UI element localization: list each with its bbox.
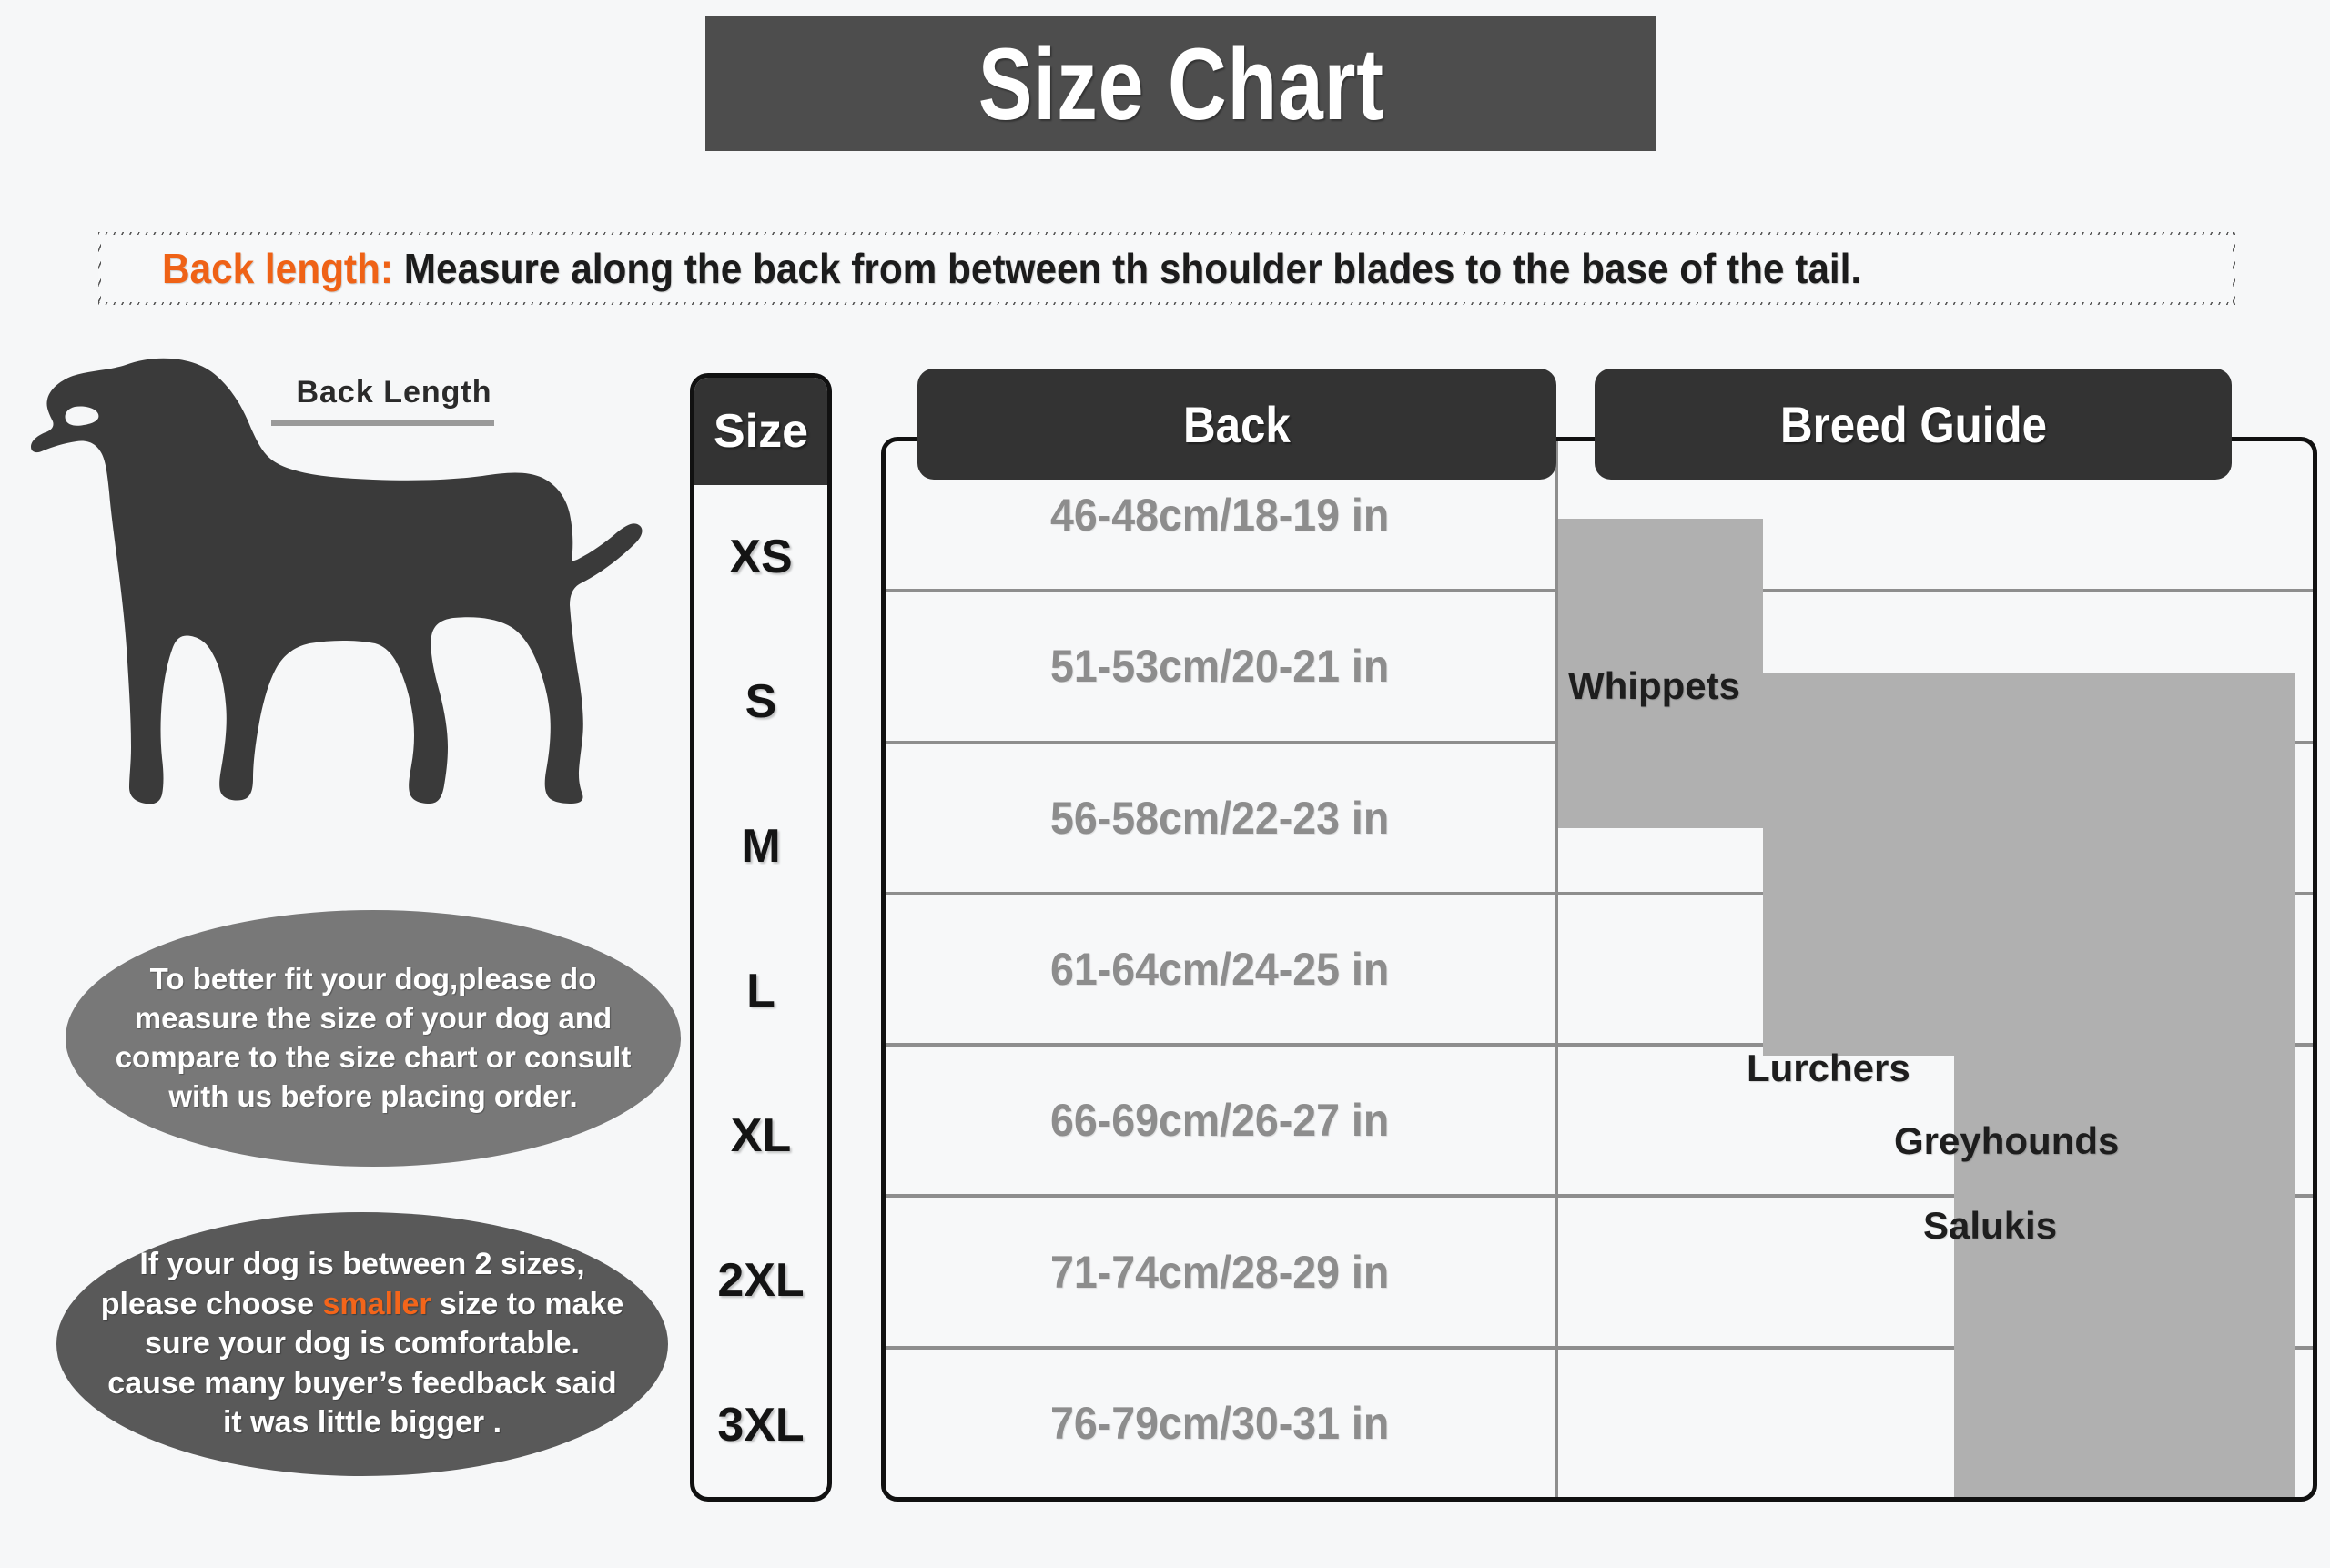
size-value: 3XL xyxy=(717,1398,804,1452)
breed-label-whippets: Whippets xyxy=(1568,664,1740,708)
size-value: S xyxy=(745,674,777,729)
tip-line: measure the size of your dog and xyxy=(135,999,612,1038)
back-value: 76-79cm/30-31 in xyxy=(1050,1397,1389,1450)
back-value: 66-69cm/26-27 in xyxy=(1050,1094,1389,1147)
table-grid: 46-48cm/18-19 in 51-53cm/20-21 in 56-58c… xyxy=(886,441,2313,1497)
back-length-instruction-bar: Back length: Measure along the back from… xyxy=(98,232,2235,305)
size-column-header: Size xyxy=(694,378,827,485)
instruction-body: Measure along the back from between th s… xyxy=(393,245,1861,292)
tip-line: compare to the size chart or consult xyxy=(116,1038,632,1077)
tip-accent-word: smaller xyxy=(323,1287,431,1321)
size-cell: XL xyxy=(694,1063,827,1208)
tip-line: If your dog is between 2 sizes, xyxy=(139,1245,584,1285)
size-column: Size XS S M L XL 2XL 3XL xyxy=(690,373,832,1502)
breed-header-label: Breed Guide xyxy=(1779,395,2046,454)
back-value: 61-64cm/24-25 in xyxy=(1050,943,1389,996)
table-row: 76-79cm/30-31 in xyxy=(886,1346,2313,1497)
size-cell: L xyxy=(694,919,827,1064)
size-column-body: XS S M L XL 2XL 3XL xyxy=(694,485,827,1497)
tip-accent-after: size to make xyxy=(431,1287,624,1321)
size-cell: 2XL xyxy=(694,1208,827,1352)
table-row: 71-74cm/28-29 in xyxy=(886,1194,2313,1345)
back-cell: 66-69cm/26-27 in xyxy=(886,1047,1555,1194)
size-cell: M xyxy=(694,774,827,919)
dog-silhouette-icon xyxy=(27,350,674,805)
back-cell: 76-79cm/30-31 in xyxy=(886,1350,1555,1497)
back-value: 56-58cm/22-23 in xyxy=(1050,792,1389,845)
back-column-header: Back xyxy=(917,369,1556,480)
table-row: 61-64cm/24-25 in xyxy=(886,892,2313,1043)
back-cell: 51-53cm/20-21 in xyxy=(886,592,1555,740)
size-cell: 3XL xyxy=(694,1352,827,1497)
instruction-text: Back length: Measure along the back from… xyxy=(162,244,1861,293)
instruction-accent-label: Back length: xyxy=(162,245,393,292)
back-cell: 56-58cm/22-23 in xyxy=(886,744,1555,892)
breed-cell xyxy=(1555,1350,2313,1497)
back-length-label-text: Back Length xyxy=(296,375,491,410)
size-value: XS xyxy=(729,530,792,584)
back-value: 71-74cm/28-29 in xyxy=(1050,1246,1389,1299)
breed-label-greyhounds: Greyhounds xyxy=(1894,1119,2119,1163)
size-header-label: Size xyxy=(714,404,808,459)
size-cell: XS xyxy=(694,485,827,630)
tip-line: To better fit your dog,please do xyxy=(150,960,597,999)
back-cell: 61-64cm/24-25 in xyxy=(886,895,1555,1043)
tip-line: with us before placing order. xyxy=(168,1077,577,1117)
breed-label-lurchers: Lurchers xyxy=(1747,1047,1910,1090)
back-cell: 71-74cm/28-29 in xyxy=(886,1198,1555,1345)
breed-column-header: Breed Guide xyxy=(1595,369,2232,480)
back-length-underline xyxy=(271,420,494,426)
fit-advice-bubble: To better fit your dog,please do measure… xyxy=(66,910,681,1167)
tip-line-with-accent: please choose smaller size to make xyxy=(101,1285,624,1325)
column-divider xyxy=(1555,441,1558,1497)
table-row: 56-58cm/22-23 in xyxy=(886,741,2313,892)
tip-accent-before: please choose xyxy=(101,1287,323,1321)
back-value: 51-53cm/20-21 in xyxy=(1050,640,1389,693)
back-value: 46-48cm/18-19 in xyxy=(1050,489,1389,541)
breed-cell xyxy=(1555,744,2313,892)
page-title: Size Chart xyxy=(978,25,1383,143)
title-banner: Size Chart xyxy=(705,16,1656,151)
between-sizes-advice-bubble: If your dog is between 2 sizes, please c… xyxy=(56,1212,668,1476)
back-length-label: Back Length xyxy=(280,375,508,410)
tip-line: sure your dog is comfortable. xyxy=(145,1324,580,1364)
tip-line: it was little bigger . xyxy=(223,1403,501,1443)
size-value: M xyxy=(741,819,780,874)
size-value: 2XL xyxy=(717,1253,804,1308)
breed-label-salukis: Salukis xyxy=(1923,1204,2057,1248)
measurement-table: 46-48cm/18-19 in 51-53cm/20-21 in 56-58c… xyxy=(881,437,2317,1502)
size-cell: S xyxy=(694,630,827,774)
size-value: XL xyxy=(731,1108,791,1163)
back-header-label: Back xyxy=(1183,395,1291,454)
breed-cell xyxy=(1555,895,2313,1043)
tip-line: cause many buyer’s feedback said xyxy=(107,1364,616,1404)
size-value: L xyxy=(746,964,775,1018)
